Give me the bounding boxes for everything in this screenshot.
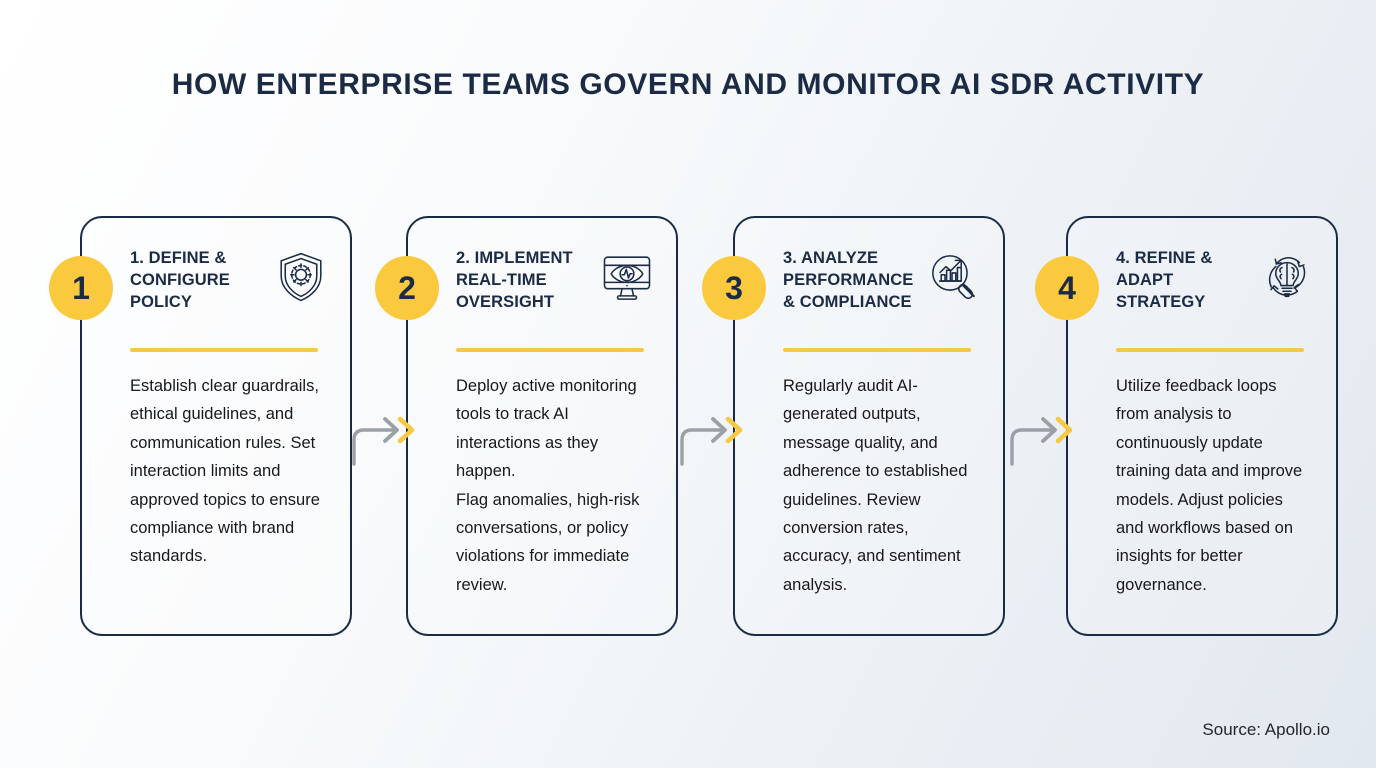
step-number-badge-3: 3 — [702, 256, 766, 320]
step-number-badge-4: 4 — [1035, 256, 1099, 320]
step-title-3: 3. ANALYZE PERFORMANCE & COMPLIANCE — [783, 248, 925, 313]
step-card-1: 1 1. DEFINE & CONFIGURE POLICY Establish… — [80, 216, 352, 636]
step-card-2: 2 2. IMPLEMENT REAL-TIME OVERSIGHT Deplo… — [406, 216, 678, 636]
step-card-4: 4 4. REFINE & ADAPT STRATEGY — [1066, 216, 1338, 636]
step-header-2: 2. IMPLEMENT REAL-TIME OVERSIGHT — [456, 248, 654, 334]
step-number-badge-1: 1 — [49, 256, 113, 320]
step-body-2: Deploy active monitoring tools to track … — [456, 372, 654, 599]
step-title-1: 1. DEFINE & CONFIGURE POLICY — [130, 248, 272, 313]
step-divider-3 — [783, 348, 971, 352]
step-number-badge-2: 2 — [375, 256, 439, 320]
shield-gear-icon — [274, 250, 328, 304]
step-divider-2 — [456, 348, 644, 352]
step-header-3: 3. ANALYZE PERFORMANCE & COMPLIANCE — [783, 248, 981, 334]
step-body-4: Utilize feedback loops from analysis to … — [1116, 372, 1314, 599]
step-divider-4 — [1116, 348, 1304, 352]
step-body-3: Regularly audit AI-generated outputs, me… — [783, 372, 981, 599]
magnifier-bar-chart-icon — [927, 250, 981, 304]
step-body-1: Establish clear guardrails, ethical guid… — [130, 372, 328, 571]
connector-step3-step4 — [1010, 396, 1086, 466]
connector-step2-step3 — [680, 396, 756, 466]
step-title-4: 4. REFINE & ADAPT STRATEGY — [1116, 248, 1258, 313]
steps-container: 1 1. DEFINE & CONFIGURE POLICY Establish… — [80, 216, 1330, 636]
step-card-3: 3 3. ANALYZE PERFORMANCE & COMPLIANCE — [733, 216, 1005, 636]
step-divider-1 — [130, 348, 318, 352]
source-attribution: Source: Apollo.io — [1202, 720, 1330, 740]
monitor-eye-pulse-icon — [600, 250, 654, 304]
step-header-1: 1. DEFINE & CONFIGURE POLICY — [130, 248, 328, 334]
connector-step1-step2 — [352, 396, 428, 466]
step-title-2: 2. IMPLEMENT REAL-TIME OVERSIGHT — [456, 248, 598, 313]
page-title: HOW ENTERPRISE TEAMS GOVERN AND MONITOR … — [0, 68, 1376, 102]
step-header-4: 4. REFINE & ADAPT STRATEGY — [1116, 248, 1314, 334]
brain-bulb-refresh-icon — [1260, 250, 1314, 304]
